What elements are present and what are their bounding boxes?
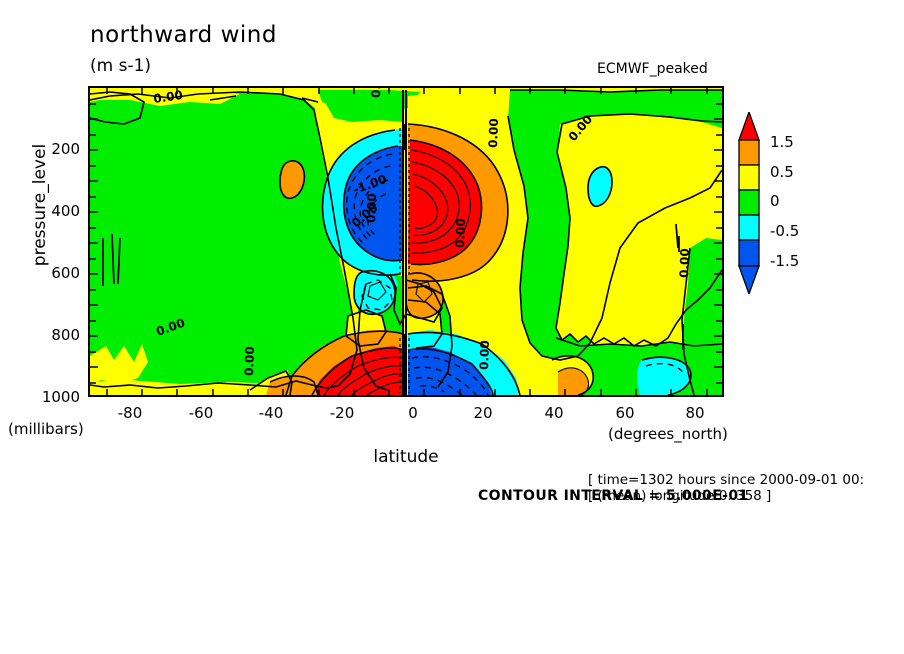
colorbar-segment-yellow <box>739 165 759 190</box>
x-tick-80: 80 <box>665 404 725 422</box>
longitude-annotation: [ (mean) longitude:0..358 ] <box>588 488 771 504</box>
x-tick--40: -40 <box>241 404 301 422</box>
contour-label-zero: 0.00 <box>453 218 468 248</box>
y-axis-title: pressure_level <box>30 105 50 305</box>
colorbar-segment-blue <box>739 240 759 266</box>
units-label: (m s-1) <box>90 56 151 76</box>
x-tick-0: 0 <box>383 404 443 422</box>
contour-label-zero: 0.00 <box>242 346 257 376</box>
y-tick-600: 600 <box>20 264 80 282</box>
contour-plot-area[interactable]: 0.00 0.00 0.00 0.00 -1.00 0.00 0.00 0.00… <box>88 86 724 397</box>
x-tick--20: -20 <box>312 404 372 422</box>
x-tick--80: -80 <box>100 404 160 422</box>
colorbar-label-1: 1.5 <box>770 133 794 151</box>
y-tick-1000: 1000 <box>20 388 80 406</box>
y-tick-400: 400 <box>20 202 80 220</box>
colorbar-label-4: -0.5 <box>770 222 799 240</box>
contour-label-zero: 0.00 <box>477 340 492 370</box>
colorbar-label-3: 0 <box>770 192 780 210</box>
y-tick-800: 800 <box>20 326 80 344</box>
colorbar-label-5: -1.5 <box>770 252 799 270</box>
x-tick-60: 60 <box>595 404 655 422</box>
x-tick-40: 40 <box>524 404 584 422</box>
x-axis-units: (degrees_north) <box>608 425 728 443</box>
dataset-label: ECMWF_peaked <box>597 61 708 77</box>
page-title: northward wind <box>90 22 277 48</box>
time-annotation: [ time=1302 hours since 2000-09-01 00: <box>588 472 864 488</box>
colorbar-segment-cyan <box>739 215 759 240</box>
contour-field: 0.00 0.00 0.00 0.00 -1.00 0.00 0.00 0.00… <box>90 88 722 395</box>
colorbar-segment-orange <box>739 140 759 165</box>
colorbar-segment-green <box>739 190 759 215</box>
y-tick-200: 200 <box>20 140 80 158</box>
contour-label-zero: 0.00 <box>369 88 384 98</box>
x-tick--60: -60 <box>171 404 231 422</box>
contour-label-zero: 0.00 <box>486 118 501 148</box>
x-axis-title: latitude <box>312 447 500 467</box>
y-axis-units: (millibars) <box>8 420 84 438</box>
colorbar[interactable] <box>736 112 762 294</box>
contour-label-zero: 0.00 <box>677 248 692 278</box>
colorbar-top-arrow <box>739 112 759 140</box>
x-tick-20: 20 <box>453 404 513 422</box>
colorbar-label-2: 0.5 <box>770 163 794 181</box>
colorbar-bottom-arrow <box>739 266 759 294</box>
